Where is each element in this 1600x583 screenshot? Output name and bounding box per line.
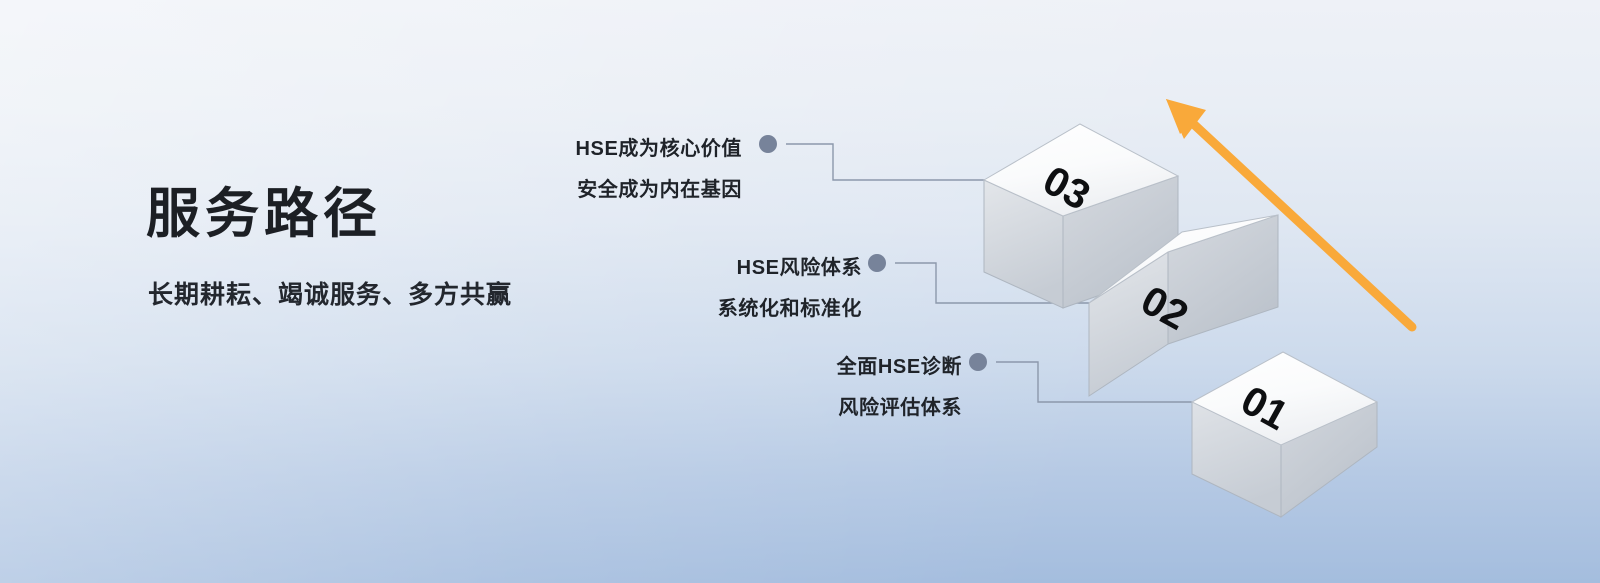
- connector-step-03: [759, 135, 985, 180]
- step-block-01: 01: [1192, 352, 1377, 517]
- connector-dot-01: [969, 353, 987, 371]
- connector-step-01: [969, 353, 1192, 402]
- staircase-illustration: 03 02 01: [0, 0, 1600, 583]
- slide-canvas: 服务路径 长期耕耘、竭诚服务、多方共赢 HSE成为核心价值 安全成为内在基因 H…: [0, 0, 1600, 583]
- connector-dot-03: [759, 135, 777, 153]
- connector-dot-02: [868, 254, 886, 272]
